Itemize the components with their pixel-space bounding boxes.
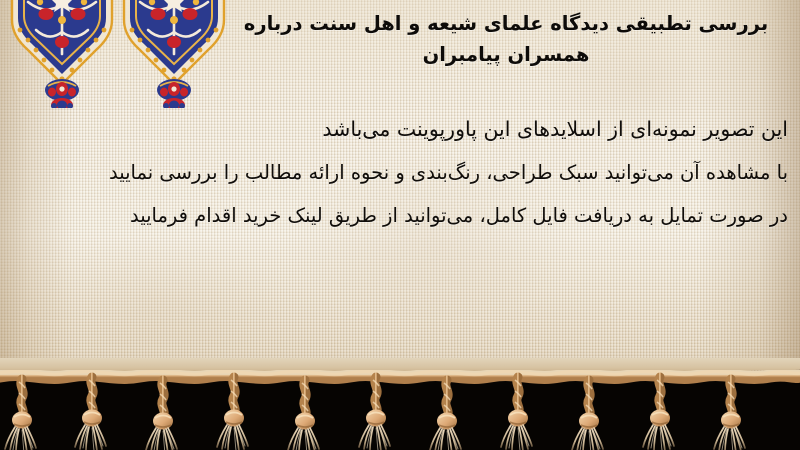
slide-body-line-3: در صورت تمایل به دریافت فایل کامل، می‌تو… — [12, 194, 788, 237]
slide-body: این تصویر نمونه‌ای از اسلایدهای این پاور… — [12, 108, 788, 237]
slide-title: بررسی تطبیقی دیدگاه علمای شیعه و اهل سنت… — [226, 8, 786, 70]
slide-title-line-2: همسران پیامبران — [226, 39, 786, 70]
knotted-tassel-fringe — [0, 370, 800, 450]
slide-body-line-1: این تصویر نمونه‌ای از اسلایدهای این پاور… — [12, 108, 788, 151]
slide-body-line-2: با مشاهده آن می‌توانید سبک طراحی، رنگ‌بن… — [12, 151, 788, 194]
slide-title-line-1: بررسی تطبیقی دیدگاه علمای شیعه و اهل سنت… — [226, 8, 786, 39]
persian-medallion-ornament-right — [118, 0, 230, 108]
persian-medallion-ornament-left — [6, 0, 118, 108]
slide-canvas: بررسی تطبیقی دیدگاه علمای شیعه و اهل سنت… — [0, 0, 800, 450]
